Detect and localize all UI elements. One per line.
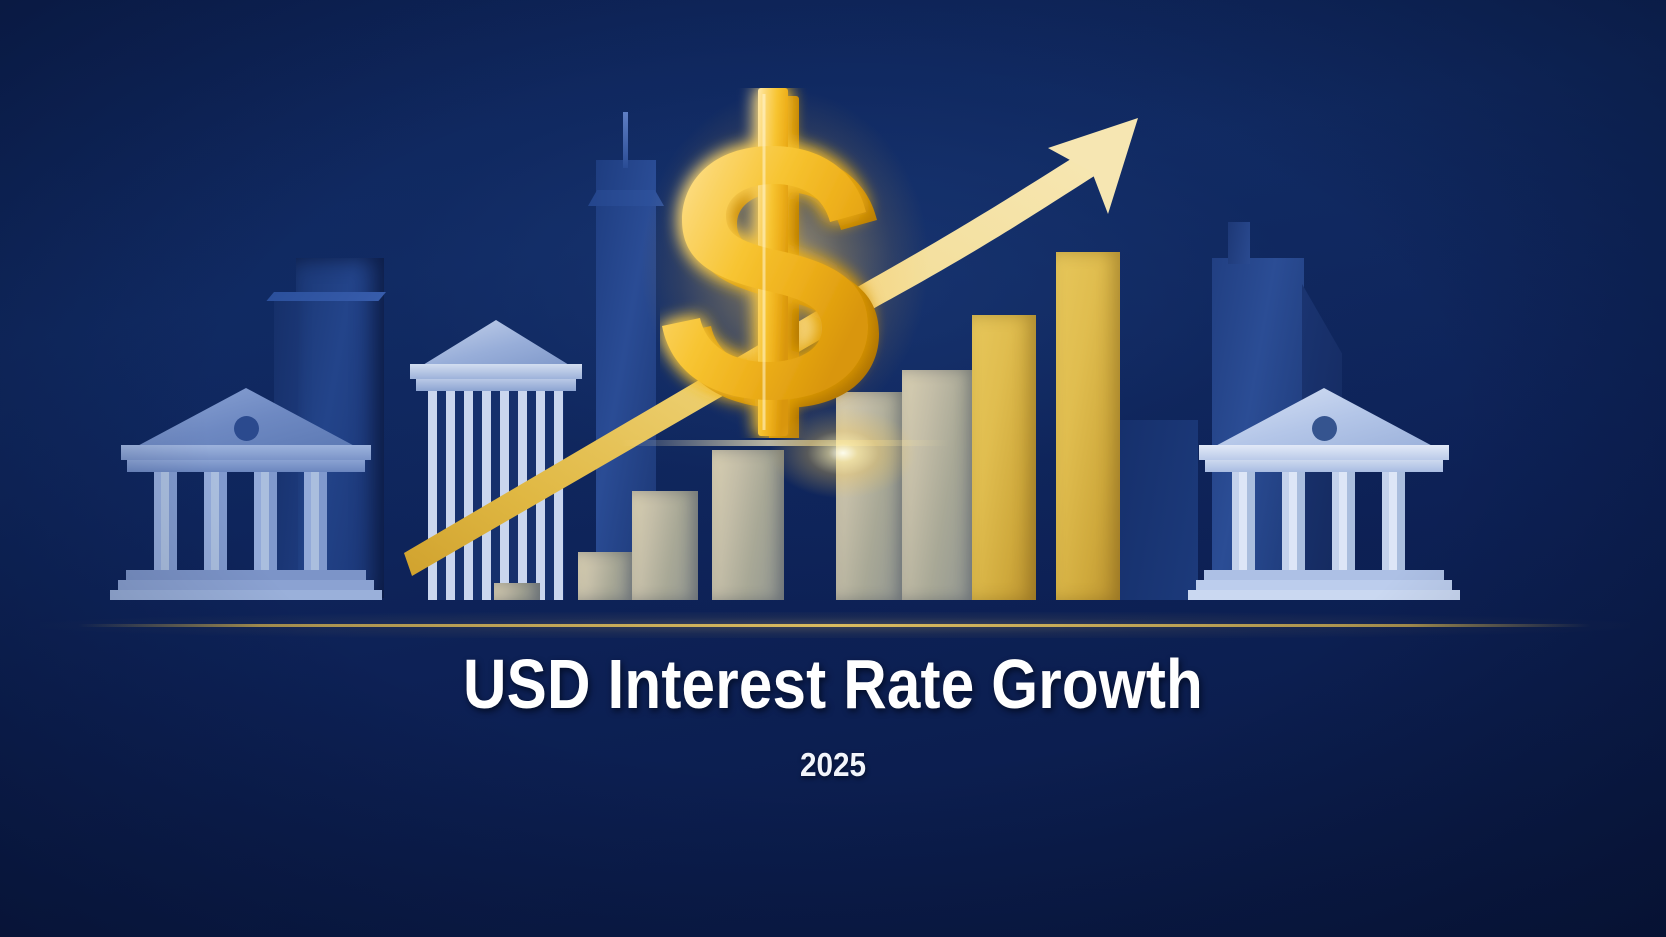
bank-left-medallion xyxy=(234,416,259,441)
skyline-central-bank xyxy=(418,320,574,600)
skyline-bank-architrave xyxy=(410,364,582,379)
caption-block: USD Interest Rate Growth 2025 xyxy=(0,648,1666,784)
bank-right-step-1 xyxy=(1204,570,1444,580)
bank-right-step-2 xyxy=(1196,580,1452,590)
page-title: USD Interest Rate Growth xyxy=(117,648,1550,722)
bank-right-columns xyxy=(1224,472,1424,570)
bank-left-step-3 xyxy=(110,590,382,600)
dollar-sign-glyph xyxy=(660,88,910,438)
skyline-right-tower-short xyxy=(1118,420,1198,600)
skyline-bank-pediment xyxy=(418,320,574,368)
bank-right-medallion xyxy=(1312,416,1337,441)
bank-right-architrave xyxy=(1199,445,1449,460)
page-subtitle: 2025 xyxy=(83,746,1582,784)
bar-2 xyxy=(578,552,634,600)
bank-left-step-1 xyxy=(126,570,366,580)
bank-left-entablature xyxy=(127,460,365,472)
bank-building-icon-left xyxy=(130,388,362,600)
bar-8 xyxy=(1056,252,1120,600)
bar-1 xyxy=(494,583,540,600)
bank-right-step-3 xyxy=(1188,590,1460,600)
poster-canvas: USD Interest Rate Growth 2025 xyxy=(0,0,1666,937)
skyline-bank-columns xyxy=(428,391,564,600)
dollar-sign-light-burst xyxy=(738,388,948,518)
skyline-bank-entablature xyxy=(416,379,576,391)
bank-building-icon-right xyxy=(1208,388,1440,600)
bar-7 xyxy=(972,315,1036,600)
bank-right-entablature xyxy=(1205,460,1443,472)
bank-left-columns xyxy=(146,472,346,570)
ground-line xyxy=(78,624,1590,627)
dollar-sign-icon xyxy=(660,88,910,438)
bank-left-architrave xyxy=(121,445,371,460)
bank-left-step-2 xyxy=(118,580,374,590)
bar-3 xyxy=(632,491,698,600)
